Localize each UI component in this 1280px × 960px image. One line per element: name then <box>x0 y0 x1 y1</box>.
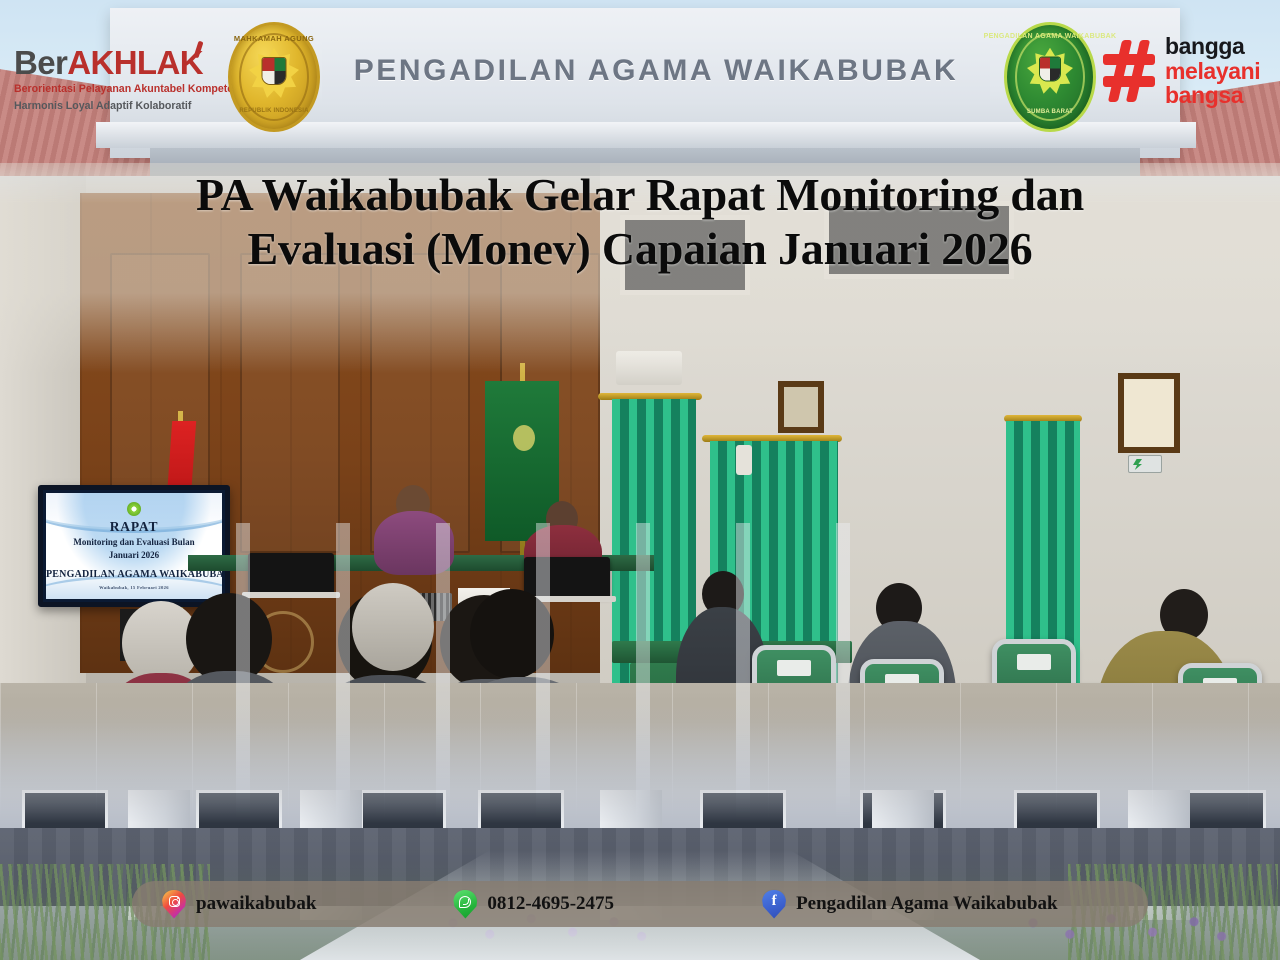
exit-sign-icon <box>1128 455 1162 473</box>
headline-area: PA Waikabubak Gelar Rapat Monitoring dan… <box>0 168 1280 277</box>
air-conditioner <box>616 351 682 385</box>
berakhlak-tagline-2: Harmonis Loyal Adaptif Kolaboratif <box>14 99 226 113</box>
berakhlak-logo: BerAKHLAK Berorientasi Pelayanan Akuntab… <box>14 46 226 114</box>
facebook-page: Pengadilan Agama Waikabubak <box>796 893 1058 915</box>
facebook-icon: f <box>762 890 786 919</box>
instagram-handle: pawaikabubak <box>196 893 316 915</box>
bangga-line-3: bangsa <box>1165 83 1260 108</box>
courtroom-floor <box>0 683 1280 823</box>
contact-facebook[interactable]: f Pengadilan Agama Waikabubak <box>762 890 1058 919</box>
wall-phone <box>736 445 752 475</box>
berakhlak-main: AKHLAK <box>67 44 203 81</box>
building-name-sign: PENGADILAN AGAMA WAIKABUBAK <box>322 40 990 102</box>
pengadilan-agama-waikabubak-seal: PENGADILAN AGAMA WAIKABUBAK SUMBA BARAT <box>1004 22 1096 132</box>
contact-whatsapp[interactable]: 0812-4695-2475 <box>453 890 614 919</box>
building-sign-text: PENGADILAN AGAMA WAIKABUBAK <box>354 54 959 88</box>
berakhlak-wordmark: BerAKHLAK <box>14 46 226 79</box>
seal-ring-text-bottom: SUMBA BARAT <box>1027 109 1073 115</box>
laptop <box>524 557 610 597</box>
slide-line-2: Monitoring dan Evaluasi Bulan <box>46 537 222 547</box>
wall-picture-frame <box>1118 373 1180 453</box>
instagram-icon <box>162 890 186 919</box>
hashtag-icon <box>1102 38 1156 104</box>
seal-ring-text-top: MAHKAMAH AGUNG <box>234 34 314 43</box>
wall-plaque <box>778 381 824 433</box>
whatsapp-icon <box>453 890 477 919</box>
bangga-melayani-bangsa-logo: bangga melayani bangsa <box>1102 34 1260 108</box>
audience-head <box>470 589 554 679</box>
header-band: BerAKHLAK Berorientasi Pelayanan Akuntab… <box>0 0 1280 155</box>
bangga-line-1: bangga <box>1165 34 1260 59</box>
official-body <box>374 511 454 575</box>
slide-line-1: RAPAT <box>46 519 222 535</box>
slide-logo-icon <box>127 502 141 516</box>
berakhlak-prefix: Ber <box>14 44 67 81</box>
audience-head-hijab <box>352 583 434 671</box>
laptop <box>248 553 334 593</box>
seal-ring-text-top: PENGADILAN AGAMA WAIKABUBAK <box>984 33 1117 40</box>
contact-bar: pawaikabubak 0812-4695-2475 f Pengadilan… <box>132 881 1148 927</box>
presentation-slide: RAPAT Monitoring dan Evaluasi Bulan Janu… <box>46 493 222 599</box>
bangga-wordmark: bangga melayani bangsa <box>1165 34 1260 108</box>
seal-shield-icon <box>262 57 287 85</box>
page-title: PA Waikabubak Gelar Rapat Monitoring dan… <box>110 168 1170 277</box>
mahkamah-agung-seal: MAHKAMAH AGUNG REPUBLIK INDONESIA <box>228 22 320 132</box>
berakhlak-tagline-1: Berorientasi Pelayanan Akuntabel Kompete… <box>14 82 226 96</box>
seal-shield-icon <box>1039 56 1061 81</box>
seal-ring-text-bottom: REPUBLIK INDONESIA <box>239 108 308 114</box>
bangga-line-2: melayani <box>1165 59 1260 84</box>
whatsapp-number: 0812-4695-2475 <box>487 893 614 915</box>
slide-line-5: Waikabubak, 15 Februari 2026 <box>46 585 222 590</box>
contact-instagram[interactable]: pawaikabubak <box>162 890 316 919</box>
